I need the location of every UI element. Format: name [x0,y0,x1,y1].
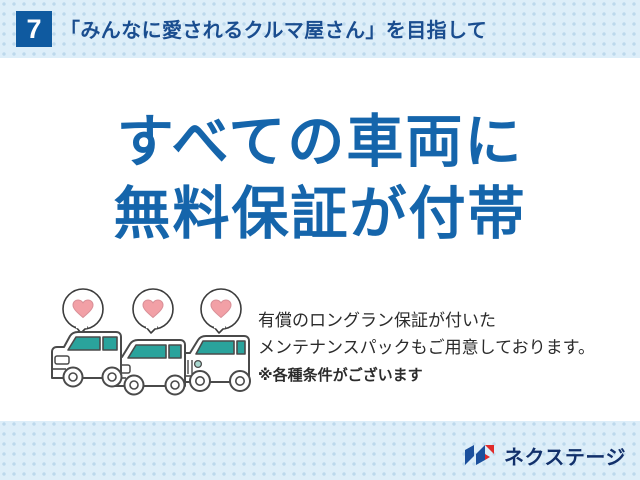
body-copy: 有償のロングラン保証が付いた メンテナンスパックもご用意しております。 ※各種条… [258,308,630,388]
headline-line-2: 無料保証が付帯 [0,178,640,250]
car-illustration [48,286,258,401]
header-bar: 7 「みんなに愛されるクルマ屋さん」を目指して [0,0,640,58]
heart-bubble-center [133,289,173,333]
body-line-1: 有償のロングラン保証が付いた [258,308,630,335]
badge-number-seven: 7 [16,11,52,47]
heart-bubble-right [201,289,241,333]
car-suv-right [176,336,250,391]
headline: すべての車両に 無料保証が付帯 [0,106,640,250]
nextage-n-logo-icon [463,443,497,467]
car-minivan-left [52,332,122,387]
advertisement-banner: 7 「みんなに愛されるクルマ屋さん」を目指して すべての車両に 無料保証が付帯 [0,0,640,480]
headline-line-1: すべての車両に [0,106,640,178]
body-note: ※各種条件がございます [258,362,630,388]
header-title: 「みんなに愛されるクルマ屋さん」を目指して [60,14,487,43]
brand-logo: ネクステージ [463,439,626,471]
brand-logo-text: ネクステージ [504,441,626,470]
content-panel: すべての車両に 無料保証が付帯 [0,58,640,421]
body-line-2: メンテナンスパックもご用意しております。 [258,335,630,362]
heart-bubble-left [63,289,103,333]
